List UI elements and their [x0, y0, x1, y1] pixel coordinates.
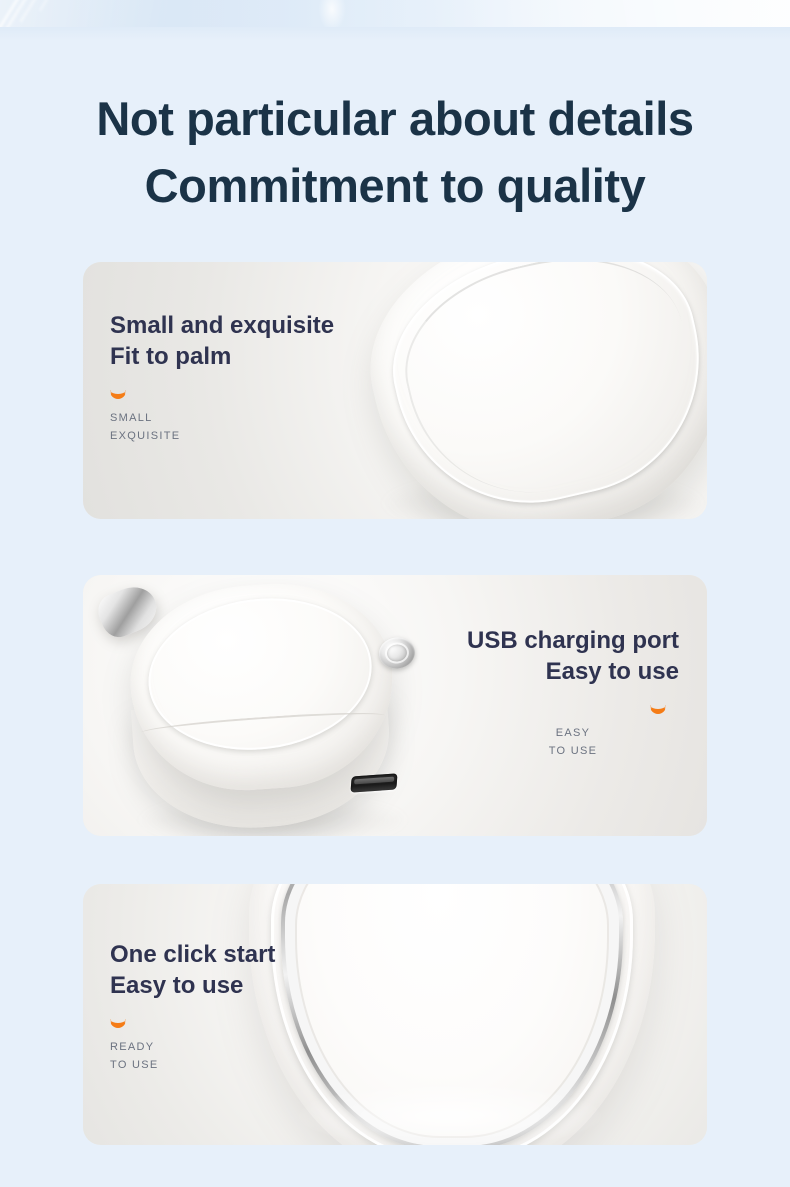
card-text-block: USB charging port Easy to use EASY TO US… — [467, 625, 679, 761]
card-title-line-2: Easy to use — [110, 970, 275, 1001]
feature-card-usb-charging: USB charging port Easy to use EASY TO US… — [83, 575, 707, 836]
chevron-down-accent-icon — [650, 705, 666, 714]
headline-line-1: Not particular about details — [0, 86, 790, 153]
headline-line-2: Commitment to quality — [0, 153, 790, 220]
banner-glow — [318, 0, 346, 27]
card-text-block: One click start Easy to use READY TO USE — [110, 939, 275, 1075]
page-headline: Not particular about details Commitment … — [0, 86, 790, 219]
feature-card-one-click-start: One click start Easy to use READY TO USE — [83, 884, 707, 1145]
top-banner — [0, 0, 790, 27]
card-caption-line-1: READY — [110, 1039, 275, 1057]
device-rim — [140, 586, 381, 762]
card-caption-line-2: TO USE — [110, 1057, 275, 1075]
banner-fade — [0, 27, 790, 41]
card-caption-line-2: EXQUISITE — [110, 428, 334, 446]
card-caption-line-1: SMALL — [110, 410, 334, 428]
chevron-down-accent-icon — [110, 1019, 126, 1028]
card-text-block: Small and exquisite Fit to palm SMALL EX… — [110, 310, 334, 446]
card-title-line-2: Easy to use — [467, 656, 679, 687]
feature-card-small-exquisite: Small and exquisite Fit to palm SMALL EX… — [83, 262, 707, 519]
power-symbol-icon — [384, 641, 411, 665]
card-caption-line-2: TO USE — [467, 743, 679, 761]
card-caption-line-1: EASY — [467, 725, 679, 743]
chevron-down-accent-icon — [110, 390, 126, 399]
card-title-line-1: USB charging port — [467, 625, 679, 656]
card-title-line-2: Fit to palm — [110, 341, 334, 372]
usb-port-icon — [350, 773, 397, 792]
card-title-line-1: Small and exquisite — [110, 310, 334, 341]
card-title-line-1: One click start — [110, 939, 275, 970]
banner-streak — [39, 0, 65, 11]
device-highlight — [299, 1084, 601, 1145]
